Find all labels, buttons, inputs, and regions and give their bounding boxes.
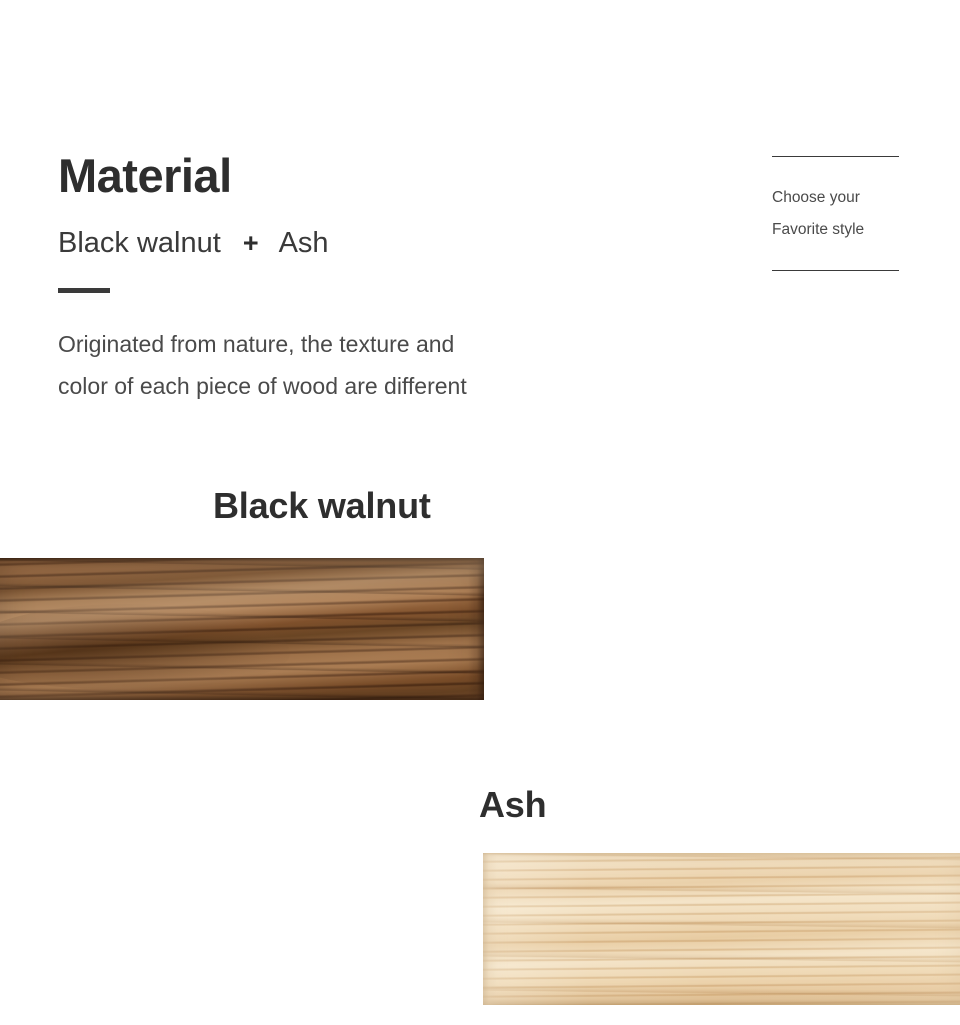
accent-dash-divider: [58, 288, 110, 293]
sample-label-ash: Ash: [479, 784, 546, 826]
tagline-rule-bottom: [772, 270, 899, 271]
description-line-2: color of each piece of wood are differen…: [58, 366, 467, 408]
black-walnut-plank-image: [0, 558, 484, 700]
subtitle-material-primary: Black walnut: [58, 226, 221, 261]
material-description: Originated from nature, the texture and …: [58, 324, 467, 408]
material-section: Material Black walnut + Ash Originated f…: [0, 0, 960, 1025]
plus-icon: +: [243, 227, 259, 259]
subtitle-material-secondary: Ash: [279, 226, 329, 261]
tagline-rule-top: [772, 156, 899, 157]
sample-label-black-walnut: Black walnut: [213, 485, 431, 527]
ash-plank-image: [483, 853, 960, 1005]
tagline-line-2: Favorite style: [772, 214, 899, 246]
tagline-block: Choose your Favorite style: [772, 156, 899, 271]
page-title: Material: [58, 150, 232, 203]
description-line-1: Originated from nature, the texture and: [58, 324, 467, 366]
tagline-line-1: Choose your: [772, 182, 899, 214]
material-combination-subtitle: Black walnut + Ash: [58, 226, 329, 261]
